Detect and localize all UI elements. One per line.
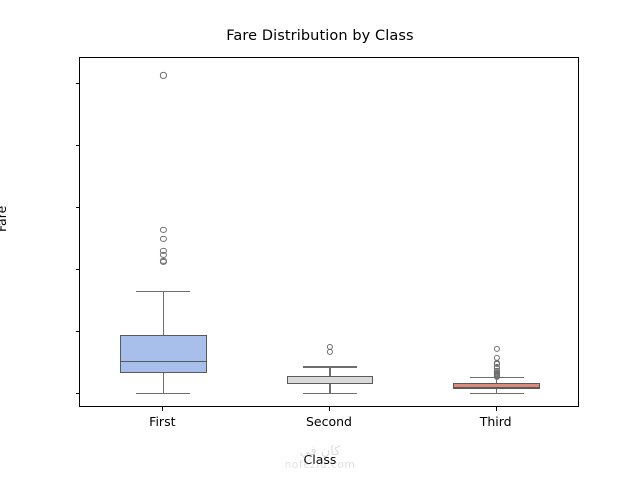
outlier-point <box>160 259 166 265</box>
cap-upper-second <box>303 366 357 367</box>
outlier-point <box>160 72 166 78</box>
outlier-point <box>160 226 166 232</box>
cap-lower-second <box>303 393 357 394</box>
outlier-point <box>160 236 166 242</box>
cap-lower-third <box>470 393 524 394</box>
median-first <box>120 361 207 362</box>
outlier-point <box>327 349 333 355</box>
whisker-lower-first <box>163 373 164 392</box>
y-tick-mark <box>76 207 80 208</box>
outlier-point <box>494 346 500 352</box>
x-tick-label-second: Second <box>249 414 409 429</box>
box-first <box>120 335 207 373</box>
plot-inner <box>80 58 578 406</box>
whisker-upper-first <box>163 291 164 335</box>
outlier-point <box>494 373 500 379</box>
y-tick-mark <box>76 331 80 332</box>
y-axis-label: Fare <box>0 206 9 232</box>
x-tick-mark <box>496 407 497 411</box>
cap-lower-first <box>136 393 190 394</box>
y-tick-mark <box>76 269 80 270</box>
figure-canvas: Fare Distribution by Class Fare Class كا… <box>0 0 640 480</box>
x-tick-mark <box>329 407 330 411</box>
y-tick-mark <box>76 393 80 394</box>
x-tick-mark <box>162 407 163 411</box>
chart-title: Fare Distribution by Class <box>0 28 640 44</box>
median-third <box>453 388 540 389</box>
y-tick-mark <box>76 83 80 84</box>
cap-upper-first <box>136 291 190 292</box>
whisker-lower-second <box>329 384 330 392</box>
median-second <box>287 383 374 384</box>
whisker-upper-second <box>329 366 330 376</box>
x-tick-label-first: First <box>82 414 242 429</box>
x-axis-label: Class <box>0 452 640 467</box>
y-tick-mark <box>76 145 80 146</box>
x-tick-label-third: Third <box>416 414 576 429</box>
plot-area <box>79 57 579 407</box>
